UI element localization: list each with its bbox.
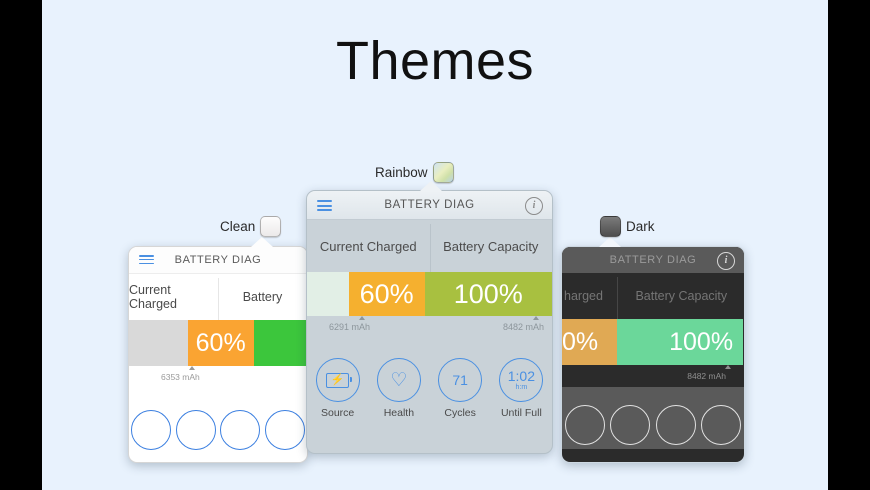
clean-bar-charged: 60%: [188, 320, 254, 366]
theme-name-dark: Dark: [626, 219, 655, 234]
dark-labels: harged Battery Capacity: [562, 273, 744, 319]
clean-circle-2: [220, 410, 260, 450]
pointer-clean: [251, 237, 273, 247]
dark-header: BATTERY DIAG i: [562, 247, 744, 273]
clean-stat-0[interactable]: [129, 410, 174, 450]
rainbow-untilfull-value: 1:02: [508, 369, 535, 383]
clean-stats: [129, 388, 307, 450]
rainbow-circle-cycles: 71: [438, 358, 482, 402]
rainbow-value-0: 60%: [360, 281, 414, 308]
rainbow-marker-0: [359, 316, 365, 320]
dark-bars: 0% 100%: [562, 319, 744, 365]
rainbow-cycles-value: 71: [452, 373, 468, 387]
window-dark[interactable]: BATTERY DIAG i harged Battery Capacity 0…: [561, 246, 745, 463]
content-area: Themes Clean BATTERY DIAG Current Charge…: [42, 0, 828, 490]
rainbow-labels: Current Charged Battery Capacity: [307, 220, 552, 272]
rainbow-stat-health[interactable]: ♡ Health: [368, 358, 429, 419]
info-icon[interactable]: i: [717, 252, 735, 270]
dark-circle-0: [565, 405, 605, 445]
theme-name-clean: Clean: [220, 219, 255, 234]
clean-label-1: Battery: [218, 274, 307, 320]
rainbow-mah-row: 6291 mAh 8482 mAh: [307, 316, 552, 338]
rainbow-label-0: Current Charged: [307, 220, 430, 272]
clean-mah-row: 6353 mAh: [129, 366, 307, 388]
battery-bolt-icon: ⚡: [326, 373, 349, 388]
rainbow-title: BATTERY DIAG: [307, 199, 552, 211]
clean-header: BATTERY DIAG: [129, 247, 307, 274]
dark-label-1: Battery Capacity: [619, 273, 744, 319]
dark-marker: [725, 365, 731, 369]
clean-track: [129, 320, 188, 366]
clean-value-0: 60%: [196, 331, 246, 356]
dark-circle-1: [610, 405, 650, 445]
window-rainbow[interactable]: BATTERY DIAG i Current Charged Battery C…: [306, 190, 553, 454]
rainbow-header: BATTERY DIAG i: [307, 191, 552, 220]
rainbow-circle-source: ⚡: [316, 358, 360, 402]
rainbow-stat-source[interactable]: ⚡ Source: [307, 358, 368, 419]
rainbow-bar-charged: 60%: [349, 272, 425, 316]
clean-bar-capacity: [254, 320, 307, 366]
rainbow-value-1: 100%: [454, 281, 523, 308]
rainbow-label-1: Battery Capacity: [430, 220, 553, 272]
dark-bar-charged: 0%: [562, 319, 617, 365]
dark-stat-1[interactable]: [608, 405, 654, 445]
dark-label-0: harged: [562, 273, 619, 319]
clean-circle-0: [131, 410, 171, 450]
dark-bar-capacity: 100%: [617, 319, 743, 365]
rainbow-bar-capacity: 100%: [425, 272, 552, 316]
dark-value-0: 0%: [562, 330, 598, 355]
rainbow-stats: ⚡ Source ♡ Health 71 Cycles: [307, 338, 552, 419]
dark-mah-row: 8482 mAh: [562, 365, 744, 387]
window-clean[interactable]: BATTERY DIAG Current Charged Battery 60%…: [128, 246, 308, 463]
theme-label-rainbow[interactable]: Rainbow: [375, 162, 454, 183]
clean-labels: Current Charged Battery: [129, 274, 307, 320]
clean-circle-1: [176, 410, 216, 450]
rainbow-swatch-icon[interactable]: [433, 162, 454, 183]
rainbow-stat-cycles[interactable]: 71 Cycles: [430, 358, 491, 419]
clean-mah-0: 6353 mAh: [161, 372, 200, 382]
heart-icon: ♡: [390, 371, 407, 390]
dark-value-1: 100%: [669, 330, 733, 355]
bolt-glyph: ⚡: [331, 375, 345, 386]
clean-marker: [189, 366, 195, 370]
rainbow-stat-label-cycles: Cycles: [444, 407, 476, 419]
screenshot-stage: Themes Clean BATTERY DIAG Current Charge…: [0, 0, 870, 490]
dark-stats: [562, 387, 744, 445]
dark-circle-2: [656, 405, 696, 445]
dark-stats-band: [562, 387, 744, 449]
clean-circle-3: [265, 410, 305, 450]
clean-stat-2[interactable]: [218, 410, 263, 450]
dark-stat-0[interactable]: [562, 405, 608, 445]
rainbow-bars: 60% 100%: [307, 272, 552, 316]
rainbow-untilfull-unit: h:m: [516, 384, 528, 391]
rainbow-mah-1: 8482 mAh: [503, 322, 544, 332]
info-icon[interactable]: i: [525, 197, 543, 215]
clean-label-0: Current Charged: [129, 274, 218, 320]
dark-circle-3: [701, 405, 741, 445]
rainbow-marker-1: [533, 316, 539, 320]
rainbow-circle-health: ♡: [377, 358, 421, 402]
clean-stat-3[interactable]: [263, 410, 308, 450]
dark-swatch-icon[interactable]: [600, 216, 621, 237]
clean-bars: 60%: [129, 320, 307, 366]
theme-name-rainbow: Rainbow: [375, 165, 428, 180]
rainbow-stat-untilfull[interactable]: 1:02 h:m Until Full: [491, 358, 552, 419]
rainbow-stat-label-source: Source: [321, 407, 354, 419]
dark-stat-2[interactable]: [653, 405, 699, 445]
clean-stat-1[interactable]: [174, 410, 219, 450]
clean-swatch-icon[interactable]: [260, 216, 281, 237]
dark-stat-3[interactable]: [699, 405, 745, 445]
clean-title: BATTERY DIAG: [129, 254, 307, 266]
pointer-dark: [599, 237, 621, 247]
rainbow-mah-0: 6291 mAh: [329, 322, 370, 332]
rainbow-track: [307, 272, 349, 316]
rainbow-circle-untilfull: 1:02 h:m: [499, 358, 543, 402]
rainbow-stat-label-untilfull: Until Full: [501, 407, 542, 419]
dark-mah-1: 8482 mAh: [687, 371, 726, 381]
page-title: Themes: [42, 34, 828, 88]
rainbow-stat-label-health: Health: [384, 407, 414, 419]
theme-label-dark[interactable]: Dark: [600, 216, 655, 237]
theme-label-clean[interactable]: Clean: [220, 216, 281, 237]
